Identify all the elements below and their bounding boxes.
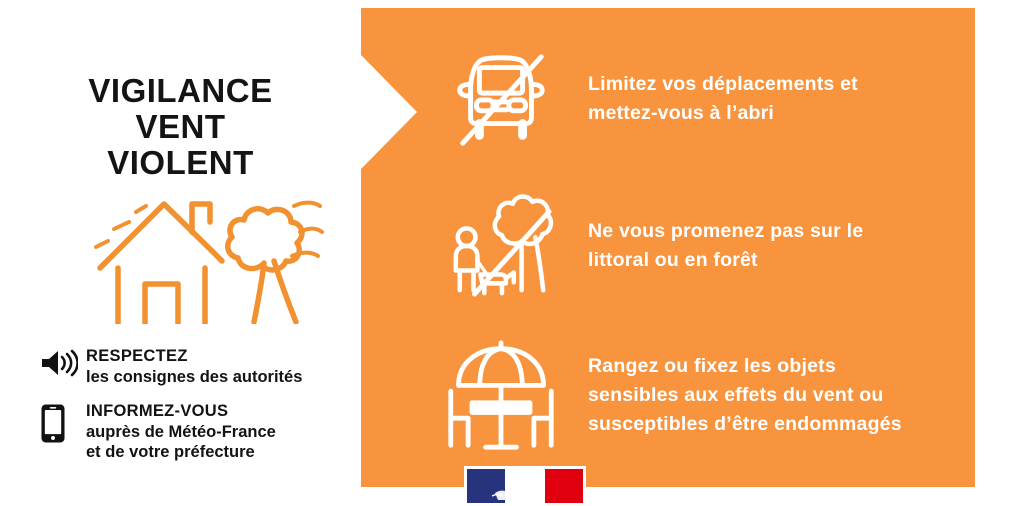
advice-subline: les consignes des autorités: [86, 367, 360, 388]
advice-list: RESPECTEZ les consignes des autorités IN…: [40, 346, 360, 477]
marianne-profile-icon: [489, 469, 555, 503]
tip-line: littoral ou en forêt: [588, 246, 966, 275]
smartphone-icon: [40, 401, 86, 444]
tip-text: Ne vous promenez pas sur le littoral ou …: [566, 217, 966, 275]
advice-subline: auprès de Météo-France: [86, 422, 360, 443]
house-and-windblown-tree-icon: [88, 192, 324, 324]
advice-heading: INFORMEZ-VOUS: [86, 401, 360, 422]
tip-text: Rangez ou fixez les objets sensibles aux…: [566, 352, 966, 439]
tips-container: Limitez vos déplacements et mettez-vous …: [361, 8, 975, 487]
page-title: VIGILANCE VENT VIOLENT: [0, 73, 361, 181]
no-car-icon: [436, 36, 566, 161]
title-line-3: VIOLENT: [0, 145, 361, 181]
advice-item-respectez: RESPECTEZ les consignes des autorités: [40, 346, 360, 387]
advice-heading: RESPECTEZ: [86, 346, 360, 367]
speaker-icon: [40, 346, 86, 378]
tip-line: Limitez vos déplacements et: [588, 70, 966, 99]
no-walking-near-trees-icon: [436, 183, 566, 308]
tip-line: sensibles aux effets du vent ou: [588, 381, 966, 410]
tip-line: mettez-vous à l’abri: [588, 99, 966, 128]
tip-line: Ne vous promenez pas sur le: [588, 217, 966, 246]
tip-row: Limitez vos déplacements et mettez-vous …: [436, 36, 966, 161]
advice-item-informez-vous: INFORMEZ-VOUS auprès de Météo-France et …: [40, 401, 360, 463]
title-line-2: VENT: [0, 109, 361, 145]
tip-line: susceptibles d’être endommagés: [588, 410, 966, 439]
tip-text: Limitez vos déplacements et mettez-vous …: [566, 70, 966, 128]
patio-parasol-table-icon: [436, 333, 566, 458]
tip-row: Ne vous promenez pas sur le littoral ou …: [436, 183, 966, 308]
tricolor-flag: [467, 469, 583, 503]
advice-text-informez-vous: INFORMEZ-VOUS auprès de Météo-France et …: [86, 401, 360, 463]
advice-text-respectez: RESPECTEZ les consignes des autorités: [86, 346, 360, 387]
advice-subline: et de votre préfecture: [86, 442, 360, 463]
tip-line: Rangez ou fixez les objets: [588, 352, 966, 381]
tip-row: Rangez ou fixez les objets sensibles aux…: [436, 328, 966, 463]
left-column: VIGILANCE VENT VIOLENT: [0, 0, 361, 500]
french-republic-marianne-logo: [464, 466, 586, 506]
title-line-1: VIGILANCE: [0, 73, 361, 109]
